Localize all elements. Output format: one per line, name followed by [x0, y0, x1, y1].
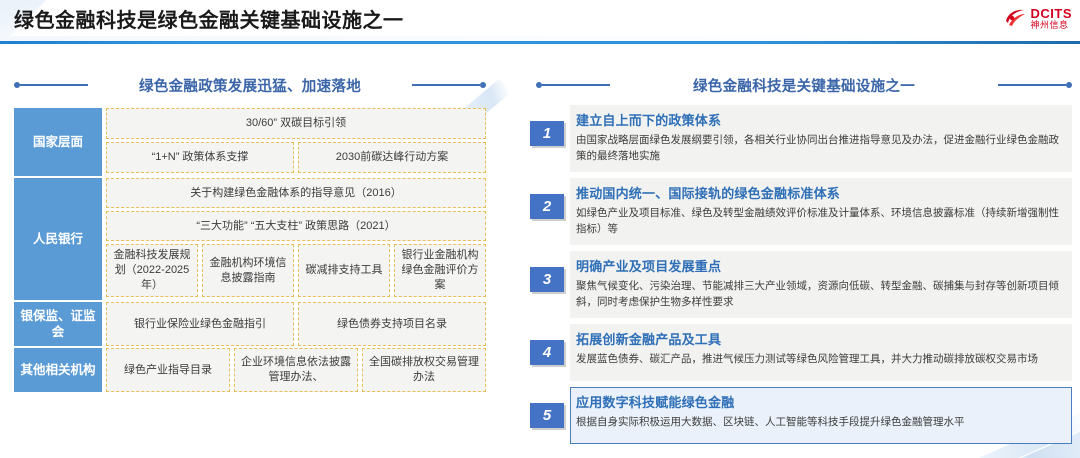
list-item-description: 聚焦气候变化、污染治理、节能减排三大产业领域，资源向低碳、转型金融、碳捕集与封存… — [576, 278, 1062, 311]
matrix-cell: 碳减排支持工具 — [298, 244, 390, 297]
policy-matrix: 国家层面 30/60” 双碳目标引领 “1+N” 政策体系支撑 2030前碳达峰… — [14, 108, 486, 394]
list-item-description: 发展蓝色债券、碳汇产品，推进气候压力测试等绿色风险管理工具，并大力推动碳排放碳权… — [576, 351, 1062, 367]
matrix-cell: “1+N” 政策体系支撑 — [106, 142, 294, 173]
left-section-title: 绿色金融政策发展迅猛、加速落地 — [125, 75, 375, 96]
rule-left — [542, 84, 610, 86]
bullet-dot-icon — [480, 82, 486, 88]
rule-right — [998, 84, 1066, 86]
matrix-cell: 2030前碳达峰行动方案 — [298, 142, 486, 173]
list-item: 3 明确产业及项目发展重点 聚焦气候变化、污染治理、节能减排三大产业领域，资源向… — [530, 251, 1072, 318]
logo-wordmark: DCITS 神州信息 — [1031, 7, 1073, 30]
matrix-row: 人民银行 关于构建绿色金融体系的指导意见（2016） “三大功能” “五大支柱”… — [14, 178, 486, 300]
matrix-line: 绿色产业指导目录 企业环境信息依法披露管理办法、 全国碳排放权交易管理办法 — [106, 348, 486, 392]
logo-name-cn: 神州信息 — [1031, 21, 1073, 30]
list-item-number: 1 — [530, 121, 564, 146]
list-item-number: 3 — [530, 267, 564, 292]
list-item-description: 如绿色产业及项目标准、绿色及转型金融绩效评价标准及计量体系、环境信息披露标准（持… — [576, 205, 1062, 238]
list-item-title: 推动国内统一、国际接轨的绿色金融标准体系 — [576, 185, 1062, 203]
list-item-title: 建立自上而下的政策体系 — [576, 112, 1062, 130]
list-item-title: 明确产业及项目发展重点 — [576, 258, 1062, 276]
list-item: 2 推动国内统一、国际接轨的绿色金融标准体系 如绿色产业及项目标准、绿色及转型金… — [530, 178, 1072, 245]
matrix-line: “三大功能” “五大支柱” 政策思路（2021） — [106, 211, 486, 241]
right-section-header: 绿色金融科技是关键基础设施之一 — [536, 76, 1072, 94]
matrix-row: 银保监、证监会 银行业保险业绿色金融指引 绿色债券支持项目名录 — [14, 302, 486, 346]
bullet-dot-icon — [1066, 82, 1072, 88]
list-item-title: 应用数字科技赋能绿色金融 — [576, 394, 1062, 412]
matrix-cell: 金融科技发展规划（2022-2025年） — [106, 244, 198, 297]
matrix-line: 金融科技发展规划（2022-2025年） 金融机构环境信息披露指南 碳减排支持工… — [106, 244, 486, 297]
matrix-cell: 银行业金融机构绿色金融评价方案 — [394, 244, 486, 297]
matrix-cell: “三大功能” “五大支柱” 政策思路（2021） — [106, 211, 486, 241]
list-item-title: 拓展创新金融产品及工具 — [576, 331, 1062, 349]
slide-title: 绿色金融科技是绿色金融关键基础设施之一 — [14, 4, 404, 33]
list-item-highlighted: 5 应用数字科技赋能绿色金融 根据自身实际积极运用大数据、区块链、人工智能等科技… — [530, 387, 1072, 444]
matrix-cell: 企业环境信息依法披露管理办法、 — [234, 348, 358, 392]
matrix-line: 银行业保险业绿色金融指引 绿色债券支持项目名录 — [106, 302, 486, 346]
matrix-cell: 全国碳排放权交易管理办法 — [362, 348, 486, 392]
list-item: 1 建立自上而下的政策体系 由国家战略层面绿色发展纲要引领，各相关行业协同出台推… — [530, 105, 1072, 172]
key-infrastructure-list: 1 建立自上而下的政策体系 由国家战略层面绿色发展纲要引领，各相关行业协同出台推… — [530, 105, 1072, 450]
dcits-swoosh-icon — [1003, 6, 1027, 30]
matrix-cell: 金融机构环境信息披露指南 — [202, 244, 294, 297]
rule-left — [20, 84, 88, 86]
matrix-row-label: 人民银行 — [14, 178, 102, 300]
brand-logo: DCITS 神州信息 — [1003, 6, 1073, 30]
rule-right — [412, 84, 480, 86]
matrix-cell: 银行业保险业绿色金融指引 — [106, 302, 294, 346]
list-item-number: 2 — [530, 194, 564, 219]
slide-canvas: 绿色金融科技是绿色金融关键基础设施之一 DCITS 神州信息 绿色金融政策发展迅… — [0, 0, 1080, 458]
list-item-description: 根据自身实际积极运用大数据、区块链、人工智能等科技手段提升绿色金融管理水平 — [576, 414, 1062, 430]
matrix-cell: 绿色债券支持项目名录 — [298, 302, 486, 346]
matrix-row: 其他相关机构 绿色产业指导目录 企业环境信息依法披露管理办法、 全国碳排放权交易… — [14, 348, 486, 392]
list-item-number: 4 — [530, 340, 564, 365]
matrix-line: 30/60” 双碳目标引领 — [106, 108, 486, 139]
list-item: 4 拓展创新金融产品及工具 发展蓝色债券、碳汇产品，推进气候压力测试等绿色风险管… — [530, 324, 1072, 381]
title-rule — [0, 41, 1080, 44]
list-item-description: 由国家战略层面绿色发展纲要引领，各相关行业协同出台推进指导意见及办法，促进金融行… — [576, 132, 1062, 165]
list-item-number: 5 — [530, 403, 564, 428]
matrix-row-label: 银保监、证监会 — [14, 302, 102, 346]
matrix-cell: 30/60” 双碳目标引领 — [106, 108, 486, 139]
matrix-row-label: 国家层面 — [14, 108, 102, 176]
matrix-row: 国家层面 30/60” 双碳目标引领 “1+N” 政策体系支撑 2030前碳达峰… — [14, 108, 486, 176]
matrix-line: “1+N” 政策体系支撑 2030前碳达峰行动方案 — [106, 142, 486, 173]
matrix-cell: 关于构建绿色金融体系的指导意见（2016） — [106, 178, 486, 208]
right-section-title: 绿色金融科技是关键基础设施之一 — [679, 75, 929, 96]
matrix-row-label: 其他相关机构 — [14, 348, 102, 392]
logo-name-en: DCITS — [1031, 7, 1073, 20]
matrix-line: 关于构建绿色金融体系的指导意见（2016） — [106, 178, 486, 208]
left-section-header: 绿色金融政策发展迅猛、加速落地 — [14, 76, 486, 94]
matrix-cell: 绿色产业指导目录 — [106, 348, 230, 392]
